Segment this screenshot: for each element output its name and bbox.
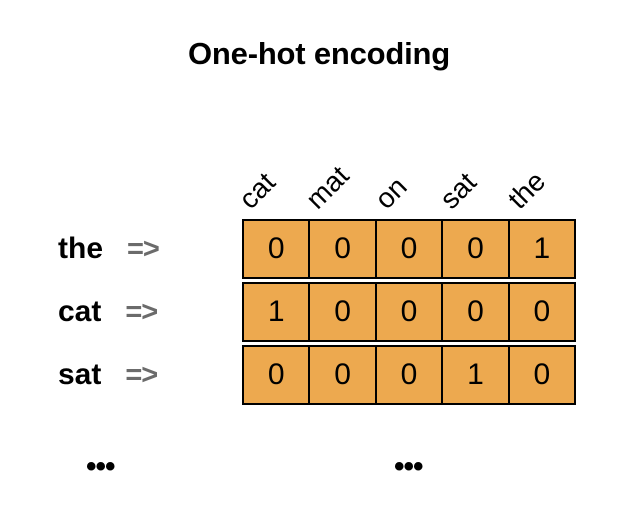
figure-title: One-hot encoding [0, 36, 638, 72]
matrix-cell: 0 [376, 282, 442, 342]
column-header-the: the [503, 167, 550, 214]
matrix-cell: 0 [376, 345, 442, 405]
row-word-sat: sat [58, 360, 101, 390]
column-header-cat: cat [234, 168, 280, 214]
matrix-cell: 1 [442, 345, 508, 405]
matrix-cell: 0 [442, 282, 508, 342]
matrix-cell: 0 [376, 219, 442, 279]
matrix-cell: 1 [242, 282, 309, 342]
matrix-cell: 0 [509, 345, 576, 405]
row-word-cat: cat [58, 297, 101, 327]
table-row: 0 0 0 0 1 [242, 219, 576, 279]
row-label-cat: cat => [58, 282, 230, 342]
matrix-ellipsis: ••• [394, 452, 423, 482]
one-hot-matrix: 0 0 0 0 1 1 0 0 0 0 0 0 0 1 0 [242, 219, 576, 405]
column-header-row: cat mat on sat the [242, 126, 576, 214]
matrix-cell: 0 [309, 219, 375, 279]
column-header-on: on [370, 172, 412, 214]
table-row: 0 0 0 1 0 [242, 345, 576, 405]
matrix-cell: 0 [242, 345, 309, 405]
one-hot-encoding-figure: One-hot encoding cat mat on sat the the … [0, 0, 638, 522]
matrix-cell: 1 [509, 219, 576, 279]
row-arrow-cat: => [125, 298, 157, 327]
column-header-mat: mat [301, 161, 354, 214]
row-word-the: the [58, 234, 103, 264]
row-labels-ellipsis: ••• [86, 452, 115, 482]
matrix-cell: 0 [309, 282, 375, 342]
matrix-cell: 0 [309, 345, 375, 405]
matrix-cell: 0 [442, 219, 508, 279]
row-label-sat: sat => [58, 345, 230, 405]
matrix-cell: 0 [509, 282, 576, 342]
row-arrow-sat: => [125, 361, 157, 390]
column-header-sat: sat [435, 168, 481, 214]
matrix-cell: 0 [242, 219, 309, 279]
table-row: 1 0 0 0 0 [242, 282, 576, 342]
row-label-the: the => [58, 219, 230, 279]
row-arrow-the: => [127, 235, 159, 264]
